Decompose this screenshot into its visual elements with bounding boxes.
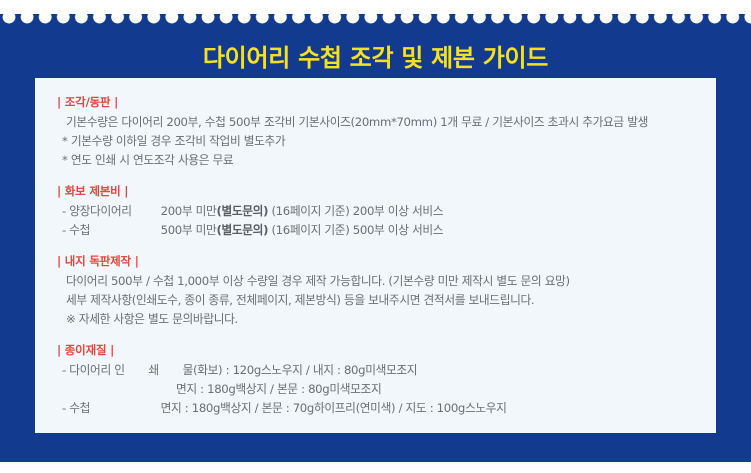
binding-row: - 수첩 500부 미만(별도문의) (16페이지 기준) 500부 이상 서비… [57,221,702,240]
row-dash: - [62,401,66,415]
section-line: 세부 제작사항(인쇄도수, 종이 종류, 전체페이지, 제본방식) 등을 보내주… [57,291,702,310]
section-custom-inner-production: | 내지 독판제작 | 다이어리 500부 / 수첩 1,000부 이상 수량일… [57,253,702,329]
section-heading: | 화보 제본비 | [57,183,702,199]
section-line: * 기본수량 이하일 경우 조각비 작업비 별도추가 [57,132,702,151]
section-heading: | 내지 독판제작 | [57,253,702,269]
row-value: 면지 : 180g백상지 / 본문 : 70g하이프리(연미색) / 지도 : … [161,401,507,415]
content-card: | 조각/동판 | 기본수량은 다이어리 200부, 수첩 500부 조각비 기… [35,78,716,433]
section-line: * 연도 인쇄 시 연도조각 사용은 무료 [57,151,702,170]
row-label-part-b: 인 쇄 물(화보) [114,361,222,380]
section-heading: | 조각/동판 | [57,94,702,110]
section-engraving: | 조각/동판 | 기본수량은 다이어리 200부, 수첩 500부 조각비 기… [57,94,702,170]
section-line: 기본수량은 다이어리 200부, 수첩 500부 조각비 기본사이즈(20mm*… [57,113,702,132]
row-post-text: (16페이지 기준) 200부 이상 서비스 [271,204,443,218]
row-dash: - [62,204,66,218]
section-binding-fee: | 화보 제본비 | - 양장다이어리 200부 미만(별도문의) (16페이지… [57,183,702,240]
section-paper-material: | 종이재질 | - 다이어리 인 쇄 물(화보) : 120g스노우지 / 내… [57,342,702,418]
row-dash: - [62,223,66,237]
row-label: 수첩 [69,221,157,240]
row-label: 수첩 [69,399,157,418]
row-label-part-a: 수 [69,221,79,240]
row-label: 양장다이어리 [69,202,157,221]
row-pre-text: 200부 미만 [161,204,217,218]
binding-row: - 양장다이어리 200부 미만(별도문의) (16페이지 기준) 200부 이… [57,202,702,221]
row-value: : 120g스노우지 / 내지 : 80g미색모조지 [226,363,418,377]
paper-row: - 다이어리 인 쇄 물(화보) : 120g스노우지 / 내지 : 80g미색… [57,361,702,380]
content-card-body: | 조각/동판 | 기본수량은 다이어리 200부, 수첩 500부 조각비 기… [57,94,702,418]
row-label-part-a: 다이어리 [69,363,111,377]
paper-row-continuation: 면지 : 180g백상지 / 본문 : 80g미색모조지 [57,380,702,399]
section-line: ※ 자세한 사항은 별도 문의바랍니다. [57,310,702,329]
section-line: 다이어리 500부 / 수첩 1,000부 이상 수량일 경우 제작 가능합니다… [57,272,702,291]
row-dash: - [62,363,66,377]
row-label-part-a: 수 [69,399,79,418]
page-root: 다이어리 수첩 조각 및 제본 가이드 | 조각/동판 | 기본수량은 다이어리… [0,0,751,473]
row-bold-note: (별도문의) [216,223,268,237]
page-title: 다이어리 수첩 조각 및 제본 가이드 [0,38,751,73]
row-bold-note: (별도문의) [216,204,268,218]
row-pre-text: 500부 미만 [161,223,217,237]
paper-row: - 수첩 면지 : 180g백상지 / 본문 : 70g하이프리(연미색) / … [57,399,702,418]
row-label-part-b: 첩 [80,399,90,418]
section-heading: | 종이재질 | [57,342,702,358]
row-label-part-b: 첩 [80,221,90,240]
row-post-text: (16페이지 기준) 500부 이상 서비스 [271,223,443,237]
